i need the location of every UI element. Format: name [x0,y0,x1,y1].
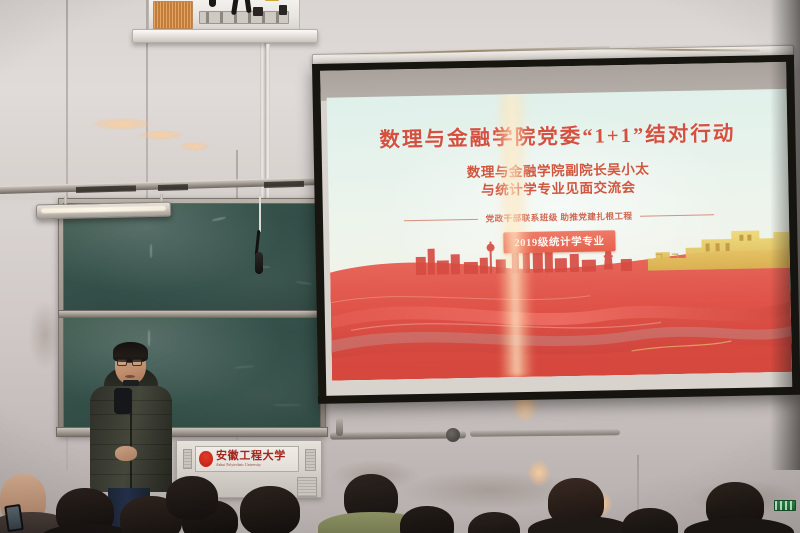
speaker-hands [115,446,137,461]
fluorescent-lamp [36,202,171,220]
inner-shirt [114,388,132,414]
pipe-cap [446,428,460,442]
projector-body [148,0,300,32]
slide-title: 数理与金融学院党委“1+1”结对行动 [327,115,787,154]
eyeglasses-left-lens [117,359,127,366]
track-segment [158,184,188,191]
divider-line-left [404,218,478,220]
university-name-cn: 安徽工程大学 [216,451,286,462]
hanging-microphone [255,252,263,274]
blackboard-mid-rail [58,310,326,318]
projector-connector [279,5,287,15]
slide-class-badge: 2019级统计学专业 [503,230,616,253]
phone-screen [7,506,22,529]
chalk-mark [296,281,312,285]
lamp-tube [41,206,166,214]
projector-vent [153,1,193,29]
university-logo-icon [199,451,213,467]
microphone-wire [259,196,261,232]
exit-sign-icon [775,501,795,510]
audience-head [166,476,218,520]
university-name-en: Anhui Polytechnic University [216,464,286,468]
projector-mount-plate [132,29,318,43]
speaker-mouth [125,375,135,378]
projected-slide: 数理与金融学院党委“1+1”结对行动 数理与金融学院副院长吴小太 与统计学专业见… [327,89,792,381]
slide-rule-text: 党政干部联系班级 助推党建扎根工程 [485,210,632,225]
audience-phone[interactable] [4,504,23,532]
screen-surface: 数理与金融学院党委“1+1”结对行动 数理与金融学院副院长吴小太 与统计学专业见… [320,62,792,397]
projection-screen[interactable]: 数理与金融学院党委“1+1”结对行动 数理与金融学院副院长吴小太 与统计学专业见… [312,55,800,404]
cabinet-vent [305,449,316,471]
divider-line-right [640,214,714,216]
projector-tape [265,0,279,1]
chalk-mark [274,404,300,406]
cabinet-vent [183,449,192,469]
blackboard-upper-panel [63,203,321,313]
eyeglasses-right-lens [132,359,142,366]
university-sign: 安徽工程大学 Anhui Polytechnic University [195,446,299,472]
right-edge-shadow [770,0,800,470]
chalk-mark [150,244,152,258]
classroom-photo-scene: 数理与金融学院党委“1+1”结对行动 数理与金融学院副院长吴小太 与统计学专业见… [0,0,800,533]
projector-connector [253,7,263,16]
projector-ports [199,11,289,24]
track-segment [264,181,304,188]
audience-head [240,486,300,533]
chalk-mark [234,365,254,369]
eyeglasses-bridge [127,362,132,363]
projector-cable [209,0,216,7]
chalk-mark [212,217,226,222]
university-sign-text: 安徽工程大学 Anhui Polytechnic University [216,451,286,468]
wall-pipe-riser [336,418,343,436]
cabinet-vent [297,477,317,497]
exit-sign [774,500,796,511]
